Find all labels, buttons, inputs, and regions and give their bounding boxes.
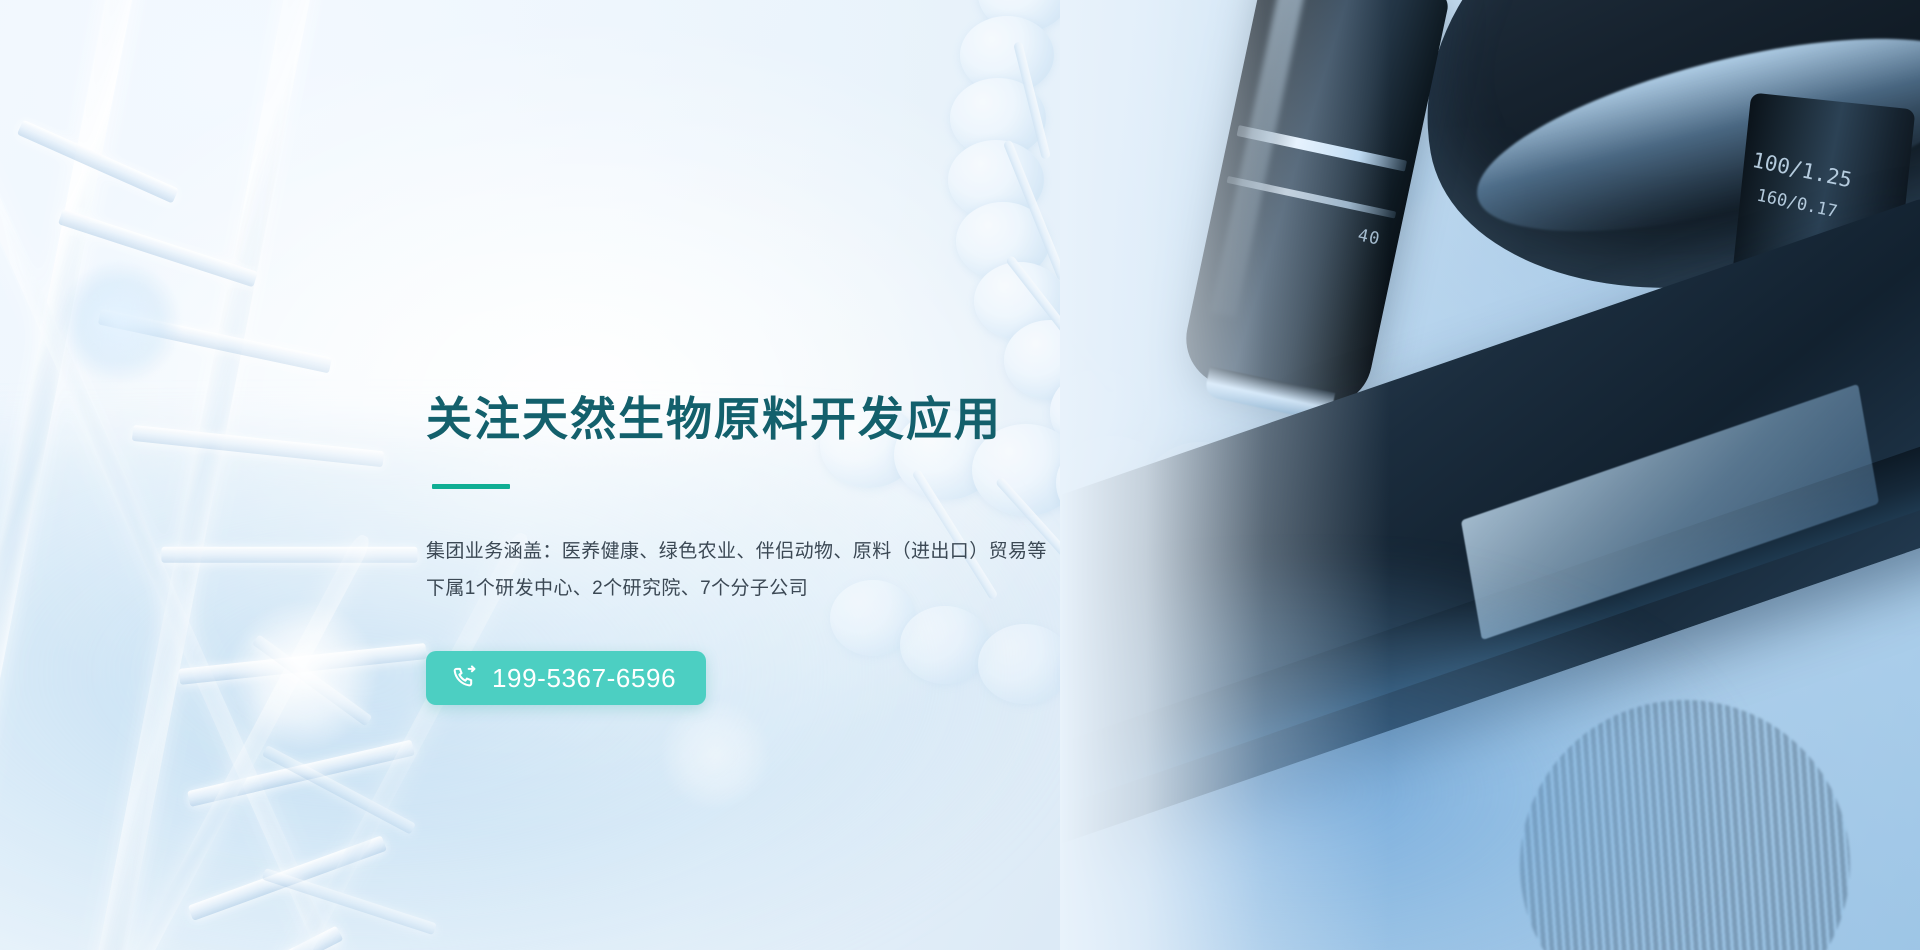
bokeh-orb bbox=[60, 262, 180, 382]
hero-description-line-2: 下属1个研发中心、2个研究院、7个分子公司 bbox=[426, 570, 1186, 607]
hero-headline: 关注天然生物原料开发应用 bbox=[426, 392, 1186, 446]
hero-divider bbox=[432, 484, 510, 489]
hero-banner: 40 100/1.25 160/0.17 100 关注天然生物原料开发应用 集团… bbox=[0, 0, 1920, 950]
hero-description-line-1: 集团业务涵盖：医养健康、绿色农业、伴侣动物、原料（进出口）贸易等 bbox=[426, 533, 1186, 570]
bokeh-orb bbox=[228, 600, 378, 750]
phone-forward-icon bbox=[452, 665, 478, 691]
phone-cta-button[interactable]: 199-5367-6596 bbox=[426, 651, 706, 705]
phone-number-label: 199-5367-6596 bbox=[492, 665, 676, 691]
lens-aperture-label-primary: 100/1.25 bbox=[1750, 148, 1854, 193]
hero-description: 集团业务涵盖：医养健康、绿色农业、伴侣动物、原料（进出口）贸易等 下属1个研发中… bbox=[426, 533, 1186, 607]
hero-content: 关注天然生物原料开发应用 集团业务涵盖：医养健康、绿色农业、伴侣动物、原料（进出… bbox=[426, 392, 1186, 705]
microscope-photo: 40 100/1.25 160/0.17 100 bbox=[1060, 0, 1920, 950]
bokeh-orb bbox=[660, 700, 770, 810]
lens-aperture-label-secondary: 160/0.17 bbox=[1755, 186, 1839, 223]
